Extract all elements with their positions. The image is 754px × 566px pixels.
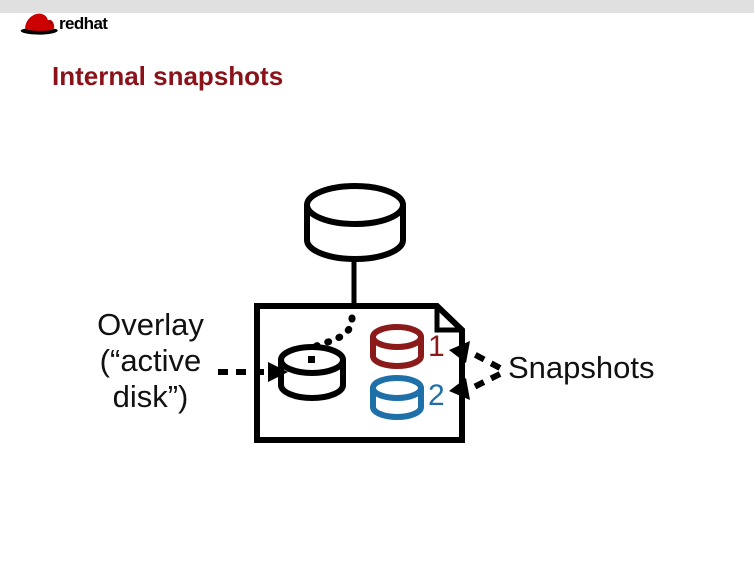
- overlay-label-line2: (“active: [100, 343, 202, 378]
- slide-canvas: redhat Internal snapshots: [0, 0, 754, 566]
- overlay-label-line3: disk”): [113, 379, 189, 414]
- snapshot-number-1: 1: [428, 330, 445, 364]
- internal-snapshots-diagram: [0, 0, 754, 566]
- snapshot-number-2: 2: [428, 379, 445, 413]
- snapshot-cylinder-2: [373, 378, 421, 417]
- snapshot-cylinder-1: [373, 327, 421, 366]
- overlay-label-line1: Overlay: [97, 307, 204, 342]
- overlay-label: Overlay (“active disk”): [58, 307, 243, 415]
- base-image-cylinder: [307, 186, 403, 259]
- overlay-cylinder: [281, 347, 343, 398]
- snapshots-label: Snapshots: [508, 350, 655, 386]
